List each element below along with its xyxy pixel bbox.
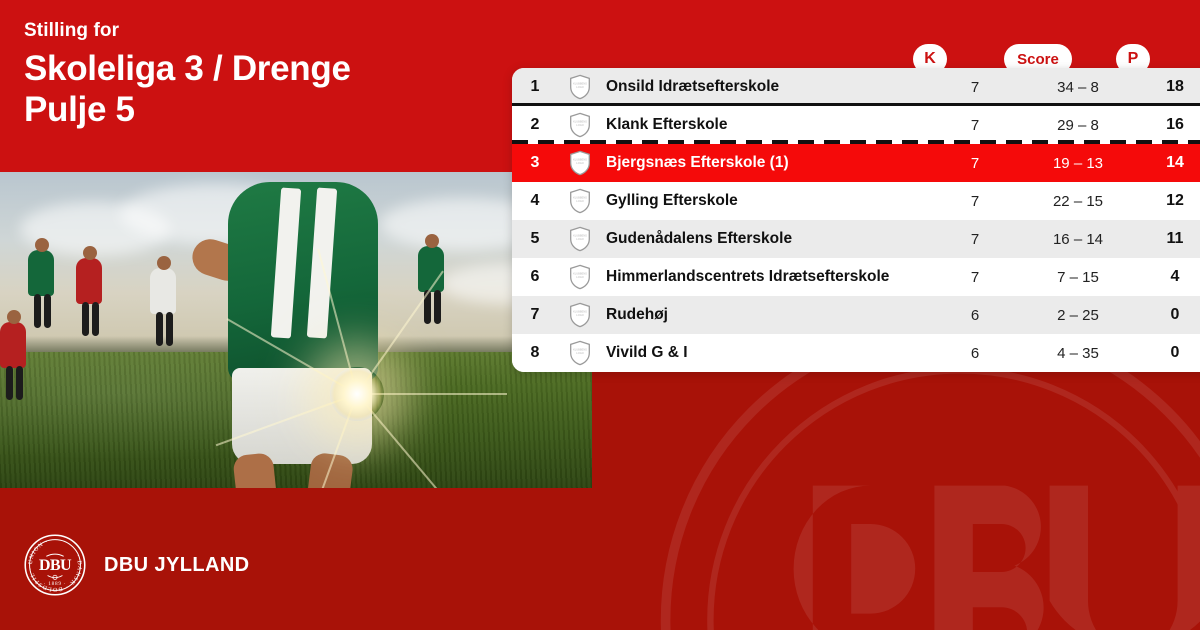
svg-text:DBU: DBU <box>39 557 72 574</box>
club-shield-icon: KLUBBENSLOGO <box>569 264 591 290</box>
club-shield-icon: KLUBBENSLOGO <box>569 112 591 138</box>
row-goal-score: 19 – 13 <box>1018 155 1138 172</box>
table-row[interactable]: 4KLUBBENSLOGOGylling Efterskole722 – 151… <box>512 182 1200 220</box>
row-goal-score: 29 – 8 <box>1018 117 1138 134</box>
row-club-logo: KLUBBENSLOGO <box>558 264 602 290</box>
row-position: 8 <box>512 344 558 362</box>
row-matches-played: 7 <box>932 155 1018 172</box>
row-points: 0 <box>1138 306 1200 324</box>
club-shield-icon: KLUBBENSLOGO <box>569 188 591 214</box>
table-row[interactable]: 6KLUBBENSLOGOHimmerlandscentrets Idrætse… <box>512 258 1200 296</box>
svg-text:· 1889 ·: · 1889 · <box>44 581 67 587</box>
table-row[interactable]: 3KLUBBENSLOGOBjergsnæs Efterskole (1)719… <box>512 144 1200 182</box>
row-club-logo: KLUBBENSLOGO <box>558 340 602 366</box>
row-team-name: Onsild Idrætsefterskole <box>602 78 932 96</box>
svg-text:LOGO: LOGO <box>576 161 584 165</box>
club-shield-icon: KLUBBENSLOGO <box>569 302 591 328</box>
standings-graphic: 1889 Stilling for Skoleliga 3 / Drenge P… <box>0 0 1200 630</box>
football-photo <box>0 172 592 488</box>
row-matches-played: 7 <box>932 79 1018 96</box>
svg-text:LOGO: LOGO <box>576 351 584 355</box>
svg-text:LOGO: LOGO <box>576 199 584 203</box>
standings-table: 1KLUBBENSLOGOOnsild Idrætsefterskole734 … <box>512 68 1200 372</box>
row-matches-played: 7 <box>932 231 1018 248</box>
row-goal-score: 16 – 14 <box>1018 231 1138 248</box>
row-matches-played: 7 <box>932 269 1018 286</box>
row-points: 11 <box>1138 230 1200 248</box>
footer-label: DBU JYLLAND <box>104 554 250 577</box>
svg-text:LOGO: LOGO <box>576 237 584 241</box>
page-title: Skoleliga 3 / Drenge Pulje 5 <box>24 48 494 130</box>
row-position: 7 <box>512 306 558 324</box>
row-goal-score: 2 – 25 <box>1018 307 1138 324</box>
dbu-logo-icon: · DANSK · BOLDSPIL · UNION · DBU · 1889 … <box>24 534 86 596</box>
row-position: 1 <box>512 78 558 96</box>
club-shield-icon: KLUBBENSLOGO <box>569 150 591 176</box>
row-points: 16 <box>1138 116 1200 134</box>
svg-text:LOGO: LOGO <box>576 123 584 127</box>
row-club-logo: KLUBBENSLOGO <box>558 302 602 328</box>
row-club-logo: KLUBBENSLOGO <box>558 112 602 138</box>
club-shield-icon: KLUBBENSLOGO <box>569 74 591 100</box>
row-matches-played: 7 <box>932 117 1018 134</box>
row-position: 6 <box>512 268 558 286</box>
table-row[interactable]: 7KLUBBENSLOGORudehøj62 – 250 <box>512 296 1200 334</box>
row-team-name: Rudehøj <box>602 306 932 324</box>
photo-sun-flare <box>330 367 384 421</box>
table-row[interactable]: 1KLUBBENSLOGOOnsild Idrætsefterskole734 … <box>512 68 1200 106</box>
row-matches-played: 6 <box>932 345 1018 362</box>
row-team-name: Vivild G & I <box>602 344 932 362</box>
photo-player-background <box>76 258 102 304</box>
row-team-name: Klank Efterskole <box>602 116 932 134</box>
table-row[interactable]: 2KLUBBENSLOGOKlank Efterskole729 – 816 <box>512 106 1200 144</box>
row-points: 12 <box>1138 192 1200 210</box>
row-team-name: Bjergsnæs Efterskole (1) <box>602 154 932 172</box>
row-club-logo: KLUBBENSLOGO <box>558 188 602 214</box>
photo-player-background <box>28 250 54 296</box>
row-points: 4 <box>1138 268 1200 286</box>
footer: · DANSK · BOLDSPIL · UNION · DBU · 1889 … <box>0 504 1200 630</box>
club-shield-icon: KLUBBENSLOGO <box>569 226 591 252</box>
row-points: 14 <box>1138 154 1200 172</box>
header-kicker: Stilling for <box>24 18 494 44</box>
row-goal-score: 4 – 35 <box>1018 345 1138 362</box>
table-row[interactable]: 8KLUBBENSLOGOVivild G & I64 – 350 <box>512 334 1200 372</box>
row-goal-score: 7 – 15 <box>1018 269 1138 286</box>
row-position: 3 <box>512 154 558 172</box>
photo-player-shirt <box>228 182 378 382</box>
row-team-name: Himmerlandscentrets Idrætsefterskole <box>602 268 932 286</box>
table-row[interactable]: 5KLUBBENSLOGOGudenådalens Efterskole716 … <box>512 220 1200 258</box>
row-team-name: Gylling Efterskole <box>602 192 932 210</box>
photo-player-background <box>150 268 176 314</box>
row-matches-played: 7 <box>932 193 1018 210</box>
svg-text:LOGO: LOGO <box>576 313 584 317</box>
row-position: 5 <box>512 230 558 248</box>
svg-text:LOGO: LOGO <box>576 85 584 89</box>
row-team-name: Gudenådalens Efterskole <box>602 230 932 248</box>
svg-text:LOGO: LOGO <box>576 275 584 279</box>
header-block: Stilling for Skoleliga 3 / Drenge Pulje … <box>24 18 494 130</box>
row-goal-score: 22 – 15 <box>1018 193 1138 210</box>
row-matches-played: 6 <box>932 307 1018 324</box>
row-points: 18 <box>1138 78 1200 96</box>
photo-player-background <box>0 322 26 368</box>
row-position: 4 <box>512 192 558 210</box>
row-club-logo: KLUBBENSLOGO <box>558 74 602 100</box>
row-club-logo: KLUBBENSLOGO <box>558 226 602 252</box>
row-goal-score: 34 – 8 <box>1018 79 1138 96</box>
row-position: 2 <box>512 116 558 134</box>
row-club-logo: KLUBBENSLOGO <box>558 150 602 176</box>
club-shield-icon: KLUBBENSLOGO <box>569 340 591 366</box>
row-points: 0 <box>1138 344 1200 362</box>
